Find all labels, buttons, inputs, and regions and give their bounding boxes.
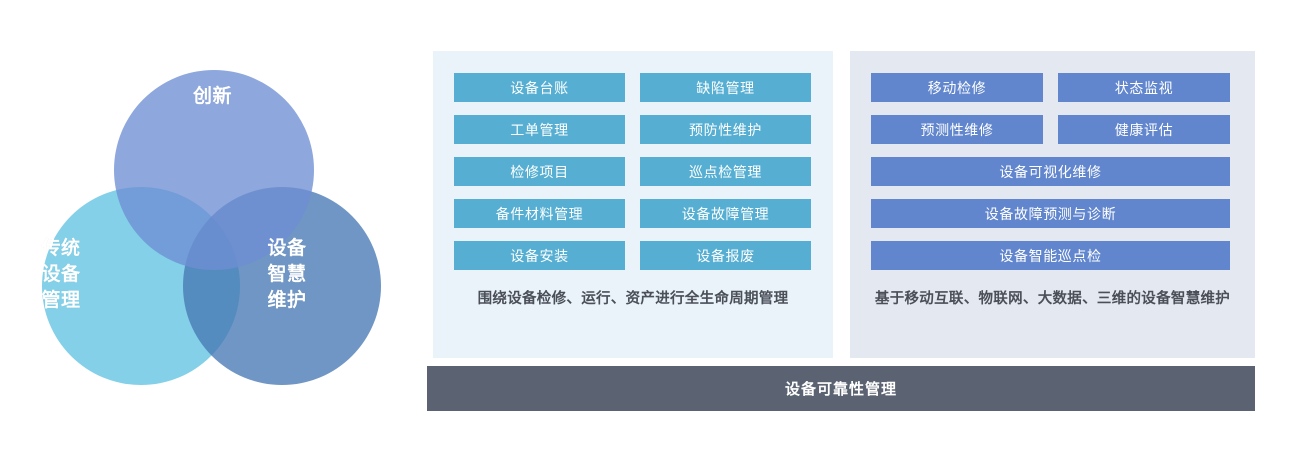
capsule-item[interactable]: 移动检修 [871, 73, 1043, 102]
capsule-item[interactable]: 设备可视化维修 [871, 157, 1230, 186]
venn-label-traditional-equipment-management: 传统 设备 管理 [0, 236, 122, 315]
venn-label-left-line-3: 管理 [0, 288, 122, 314]
panel-caption-traditional: 围绕设备检修、运行、资产进行全生命周期管理 [454, 288, 812, 310]
capsule-item[interactable]: 缺陷管理 [640, 73, 811, 102]
venn-label-left-line-1: 传统 [0, 236, 122, 262]
capsule-item[interactable]: 设备故障预测与诊断 [871, 199, 1230, 228]
capsule-item[interactable]: 工单管理 [454, 115, 625, 144]
capsule-item[interactable]: 状态监视 [1058, 73, 1230, 102]
capsule-item[interactable]: 备件材料管理 [454, 199, 625, 228]
capsule-item[interactable]: 检修项目 [454, 157, 625, 186]
bottom-bar-equipment-reliability-management: 设备可靠性管理 [427, 366, 1255, 411]
venn-label-right-line-2: 智慧 [228, 262, 346, 288]
capsule-item[interactable]: 预测性维修 [871, 115, 1043, 144]
venn-label-smart-equipment-maintenance: 设备 智慧 维护 [228, 236, 346, 315]
panel-smart-equipment-maintenance: 移动检修 状态监视 预测性维修 健康评估 设备可视化维修 设备故障预测与诊断 设… [850, 51, 1255, 358]
panel-traditional-equipment-management: 设备台账 缺陷管理 工单管理 预防性维护 检修项目 巡点检管理 备件材料管理 设… [433, 51, 833, 358]
venn-label-right-line-3: 维护 [228, 288, 346, 314]
capsule-item[interactable]: 设备安装 [454, 241, 625, 270]
bottom-bar-label: 设备可靠性管理 [785, 378, 897, 399]
venn-label-innovation: 创新 [0, 84, 425, 110]
venn-label-innovation-text: 创新 [0, 84, 425, 110]
capsule-grid-traditional: 设备台账 缺陷管理 工单管理 预防性维护 检修项目 巡点检管理 备件材料管理 设… [454, 73, 812, 270]
venn-label-right-line-1: 设备 [228, 236, 346, 262]
capsule-item[interactable]: 设备台账 [454, 73, 625, 102]
capsule-item[interactable]: 设备智能巡点检 [871, 241, 1230, 270]
capsule-item[interactable]: 预防性维护 [640, 115, 811, 144]
panel-caption-smart: 基于移动互联、物联网、大数据、三维的设备智慧维护 [871, 288, 1234, 310]
capsule-item[interactable]: 设备报废 [640, 241, 811, 270]
capsule-item[interactable]: 巡点检管理 [640, 157, 811, 186]
capsule-item[interactable]: 健康评估 [1058, 115, 1230, 144]
venn-label-left-line-2: 设备 [0, 262, 122, 288]
capsule-item[interactable]: 设备故障管理 [640, 199, 811, 228]
venn-diagram: 创新 传统 设备 管理 设备 智慧 维护 [0, 0, 425, 451]
capsule-grid-smart: 移动检修 状态监视 预测性维修 健康评估 设备可视化维修 设备故障预测与诊断 设… [871, 73, 1234, 270]
